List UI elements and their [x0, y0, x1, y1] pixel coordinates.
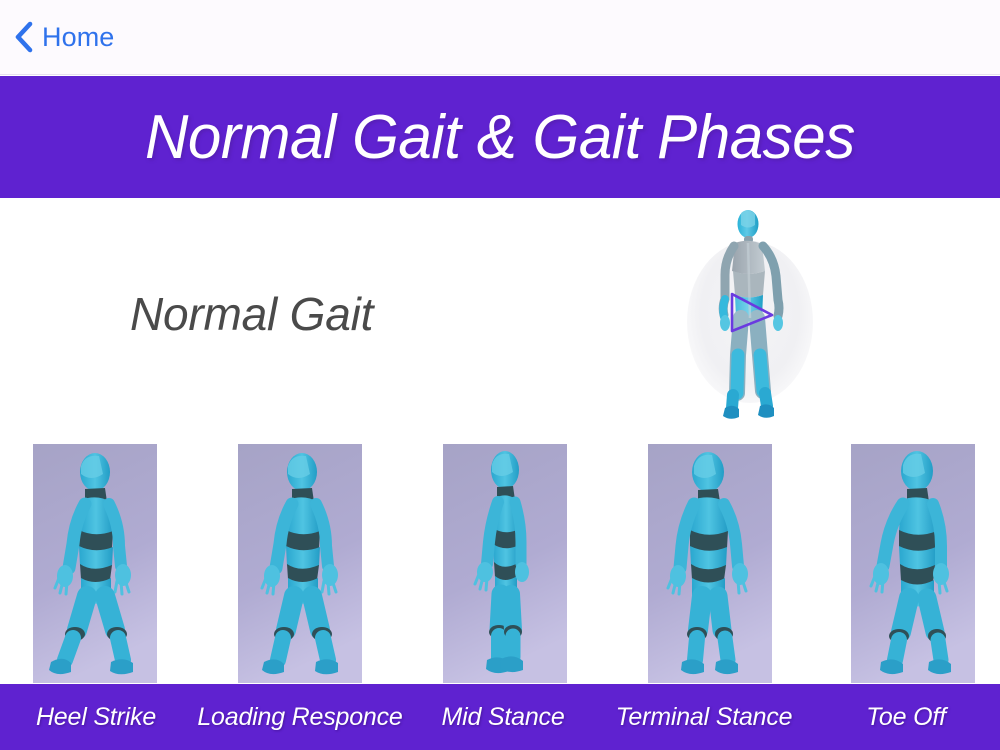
app-screen: Home Normal Gait & Gait Phases Normal Ga… — [0, 0, 1000, 750]
play-triangle-icon[interactable] — [728, 288, 776, 336]
walking-figure-heel-strike — [33, 444, 157, 683]
navigation-bar: Home — [0, 0, 1000, 75]
main-content: Normal Gait — [0, 198, 1000, 683]
walking-figure-mid-stance — [443, 444, 567, 683]
chevron-left-icon — [14, 21, 34, 53]
walking-figure-loading-responce — [238, 444, 362, 683]
phase-label-toe-off: Toe Off — [826, 703, 986, 732]
page-title: Normal Gait & Gait Phases — [145, 102, 855, 173]
normal-gait-video-thumbnail[interactable] — [675, 203, 825, 428]
gait-phase-thumbnail[interactable] — [33, 444, 157, 683]
gait-phase-thumbnail[interactable] — [238, 444, 362, 683]
walking-figure-toe-off — [851, 444, 975, 683]
gait-phase-thumbnail[interactable] — [443, 444, 567, 683]
back-button[interactable]: Home — [14, 21, 114, 53]
phase-label-loading-responce: Loading Responce — [180, 703, 420, 732]
walking-figure-terminal-stance — [648, 444, 772, 683]
gait-phase-thumbnail-strip — [0, 444, 1000, 683]
section-title: Normal Gait — [130, 287, 373, 341]
back-button-label: Home — [42, 24, 114, 51]
gait-phase-thumbnail[interactable] — [648, 444, 772, 683]
phase-label-bar: Heel Strike Loading Responce Mid Stance … — [0, 684, 1000, 750]
phase-label-mid-stance: Mid Stance — [413, 703, 593, 732]
phase-label-heel-strike: Heel Strike — [0, 703, 192, 732]
phase-label-terminal-stance: Terminal Stance — [594, 703, 814, 732]
page-title-band: Normal Gait & Gait Phases — [0, 76, 1000, 198]
gait-phase-thumbnail[interactable] — [851, 444, 975, 683]
